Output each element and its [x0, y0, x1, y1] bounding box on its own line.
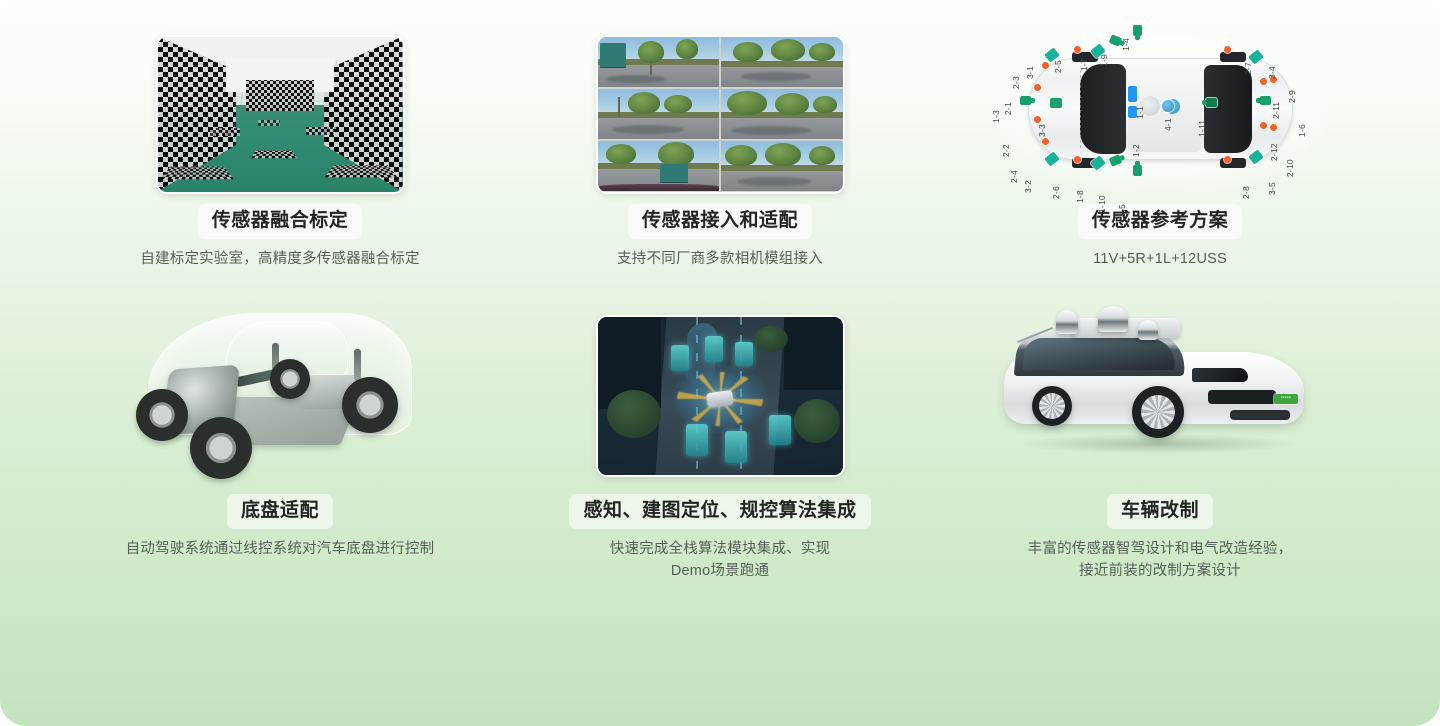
camera-grid-image	[596, 35, 845, 194]
sensor-label-2-11: 2-11	[1271, 101, 1281, 118]
sensor-label-1-2: 1-2	[1131, 144, 1141, 157]
detected-vehicle	[671, 345, 689, 371]
chassis-image	[130, 301, 430, 491]
sensor-label-2-7: 2-7	[1243, 62, 1253, 75]
camera-view-front-right	[721, 37, 843, 87]
card-description: 自动驾驶系统通过线控系统对汽车底盘进行控制	[40, 538, 520, 560]
feature-card-grid: 传感器融合标定 自建标定实验室，高精度多传感器融合标定	[0, 0, 1440, 600]
lower-grille	[1230, 410, 1290, 420]
front-wheel	[1132, 386, 1184, 438]
card-description: 自建标定实验室，高精度多传感器融合标定	[40, 248, 520, 270]
camera-sensor-1-5	[1133, 165, 1142, 176]
sensor-label-2-4: 2-4	[1009, 170, 1019, 183]
license-plate: •••••	[1274, 394, 1298, 404]
uss-sensor-2-8	[1224, 156, 1231, 163]
sensor-label-1-11: 1-11	[1197, 119, 1207, 136]
sensor-label-3-2: 3-2	[1023, 180, 1033, 193]
infographic-root: 传感器融合标定 自建标定实验室，高精度多传感器融合标定	[0, 0, 1440, 726]
sensor-label-1-5: 1-5	[1117, 204, 1127, 217]
retrofit-vehicle-image: •••••	[980, 310, 1340, 482]
card-title: 感知、建图定位、规控算法集成	[569, 494, 870, 529]
sensor-label-1-9: 1-9	[1099, 54, 1109, 67]
sensor-label-4-1: 4-1	[1163, 118, 1173, 131]
perception-scene-image	[596, 315, 845, 477]
camera-sensor-1-4	[1133, 25, 1142, 36]
multi-camera-grid-photo	[480, 24, 960, 204]
lidar-unit	[1098, 306, 1128, 332]
sensor-label-2-9: 2-9	[1287, 90, 1297, 103]
lidar-unit	[1056, 310, 1078, 334]
sensor-layout-diagram: 1-3 2-1 2-2 2-3 2-4 3-1 3-2 3-3 2-5 2-6 …	[920, 14, 1400, 204]
uss-sensor-2-5	[1074, 46, 1081, 53]
front-grille	[1208, 390, 1276, 404]
card-perception-mapping-planning: 感知、建图定位、规控算法集成 快速完成全栈算法模块集成、实现Demo场景跑通	[480, 298, 960, 583]
uss-sensor-2-1	[1034, 84, 1041, 91]
detected-vehicle	[735, 342, 753, 366]
sensor-label-1-4: 1-4	[1121, 38, 1131, 51]
uss-sensor-2-11	[1260, 78, 1267, 85]
camera-view-front-left	[598, 37, 720, 87]
detected-vehicle	[769, 415, 791, 445]
uss-sensor-2-3	[1042, 62, 1049, 69]
camera-view-side-left	[598, 89, 720, 139]
uss-sensor-2-2	[1034, 116, 1041, 123]
ghost-chassis-render	[40, 298, 520, 494]
uss-sensor-2-10	[1270, 124, 1277, 131]
sensor-label-2-2: 2-2	[1001, 144, 1011, 157]
sensor-label-1-1: 1-1	[1135, 106, 1145, 119]
sensor-label-3-1: 3-1	[1025, 66, 1035, 79]
lidar-unit	[1138, 320, 1158, 340]
calibration-lab-photo	[40, 24, 520, 204]
card-title: 传感器接入和适配	[628, 204, 812, 239]
lidar-sensor-1-1	[1128, 86, 1137, 102]
detected-vehicle	[705, 336, 723, 362]
sensor-label-1-6: 1-6	[1297, 124, 1307, 137]
card-title: 车辆改制	[1107, 494, 1213, 529]
rear-wheel	[1032, 386, 1072, 426]
card-description: 支持不同厂商多款相机模组接入	[480, 248, 960, 270]
sensor-label-2-5: 2-5	[1053, 60, 1063, 73]
sensor-label-3-3: 3-3	[1037, 124, 1047, 137]
retrofit-vehicle-photo: •••••	[920, 298, 1400, 494]
card-sensor-reference-solution: 1-3 2-1 2-2 2-3 2-4 3-1 3-2 3-3 2-5 2-6 …	[920, 14, 1400, 270]
radar-sensor-3-3	[1050, 98, 1062, 108]
card-sensor-fusion-calibration: 传感器融合标定 自建标定实验室，高精度多传感器融合标定	[40, 24, 520, 270]
sensor-label-2-6: 2-6	[1051, 186, 1061, 199]
sensor-label-3-5: 3-5	[1267, 182, 1277, 195]
sensor-label-1-7: 1-7	[1079, 58, 1089, 71]
camera-view-rear-left	[598, 141, 720, 191]
gnss-sensor-4-1	[1162, 100, 1174, 112]
uss-sensor-2-7	[1224, 46, 1231, 53]
camera-view-rear-right	[721, 141, 843, 191]
card-sensor-integration-adaptation: 传感器接入和适配 支持不同厂商多款相机模组接入	[480, 24, 960, 270]
sensor-label-3-4: 3-4	[1267, 66, 1277, 79]
camera-sensor-1-11	[1206, 98, 1217, 107]
detected-vehicle	[725, 431, 747, 463]
calibration-lab-image	[156, 35, 405, 194]
sensor-label-1-8: 1-8	[1075, 190, 1085, 203]
headlight	[1192, 368, 1248, 382]
sensor-label-2-12: 2-12	[1269, 143, 1279, 161]
sensor-label-2-3: 2-3	[1011, 76, 1021, 89]
uss-sensor-2-6	[1074, 156, 1081, 163]
project-timeline: T0 项目启动 T0+W1 系统方案设计 T0+W3 传感器和域控系统集成 T0…	[0, 596, 1440, 726]
sensor-label-1-10: 1-10	[1097, 195, 1107, 213]
card-chassis-adaptation: 底盘适配 自动驾驶系统通过线控系统对汽车底盘进行控制	[40, 298, 520, 560]
sensor-label-2-8: 2-8	[1241, 186, 1251, 199]
perception-scene-photo	[480, 298, 960, 494]
uss-sensor-2-4	[1042, 138, 1049, 145]
sensor-layout-canvas: 1-3 2-1 2-2 2-3 2-4 3-1 3-2 3-3 2-5 2-6 …	[980, 22, 1340, 197]
uss-sensor-2-12	[1260, 122, 1267, 129]
card-vehicle-retrofit: ••••• 车辆改制 丰富的传感器智驾设计和电气改造经验，接近前装的改制方案设计	[920, 298, 1400, 583]
card-title: 传感器融合标定	[198, 204, 363, 239]
card-title: 底盘适配	[227, 494, 333, 529]
camera-sensor-1-3	[1020, 96, 1031, 105]
sensor-label-2-1: 2-1	[1003, 102, 1013, 115]
card-description: 快速完成全栈算法模块集成、实现Demo场景跑通	[480, 538, 960, 583]
sensor-label-1-3: 1-3	[991, 110, 1001, 123]
camera-sensor-1-6	[1260, 96, 1271, 105]
card-description: 11V+5R+1L+12USS	[920, 248, 1400, 270]
sensor-label-2-10: 2-10	[1285, 159, 1295, 177]
camera-view-side-right	[721, 89, 843, 139]
card-description: 丰富的传感器智驾设计和电气改造经验，接近前装的改制方案设计	[920, 538, 1400, 583]
top-view-car	[1028, 44, 1293, 174]
